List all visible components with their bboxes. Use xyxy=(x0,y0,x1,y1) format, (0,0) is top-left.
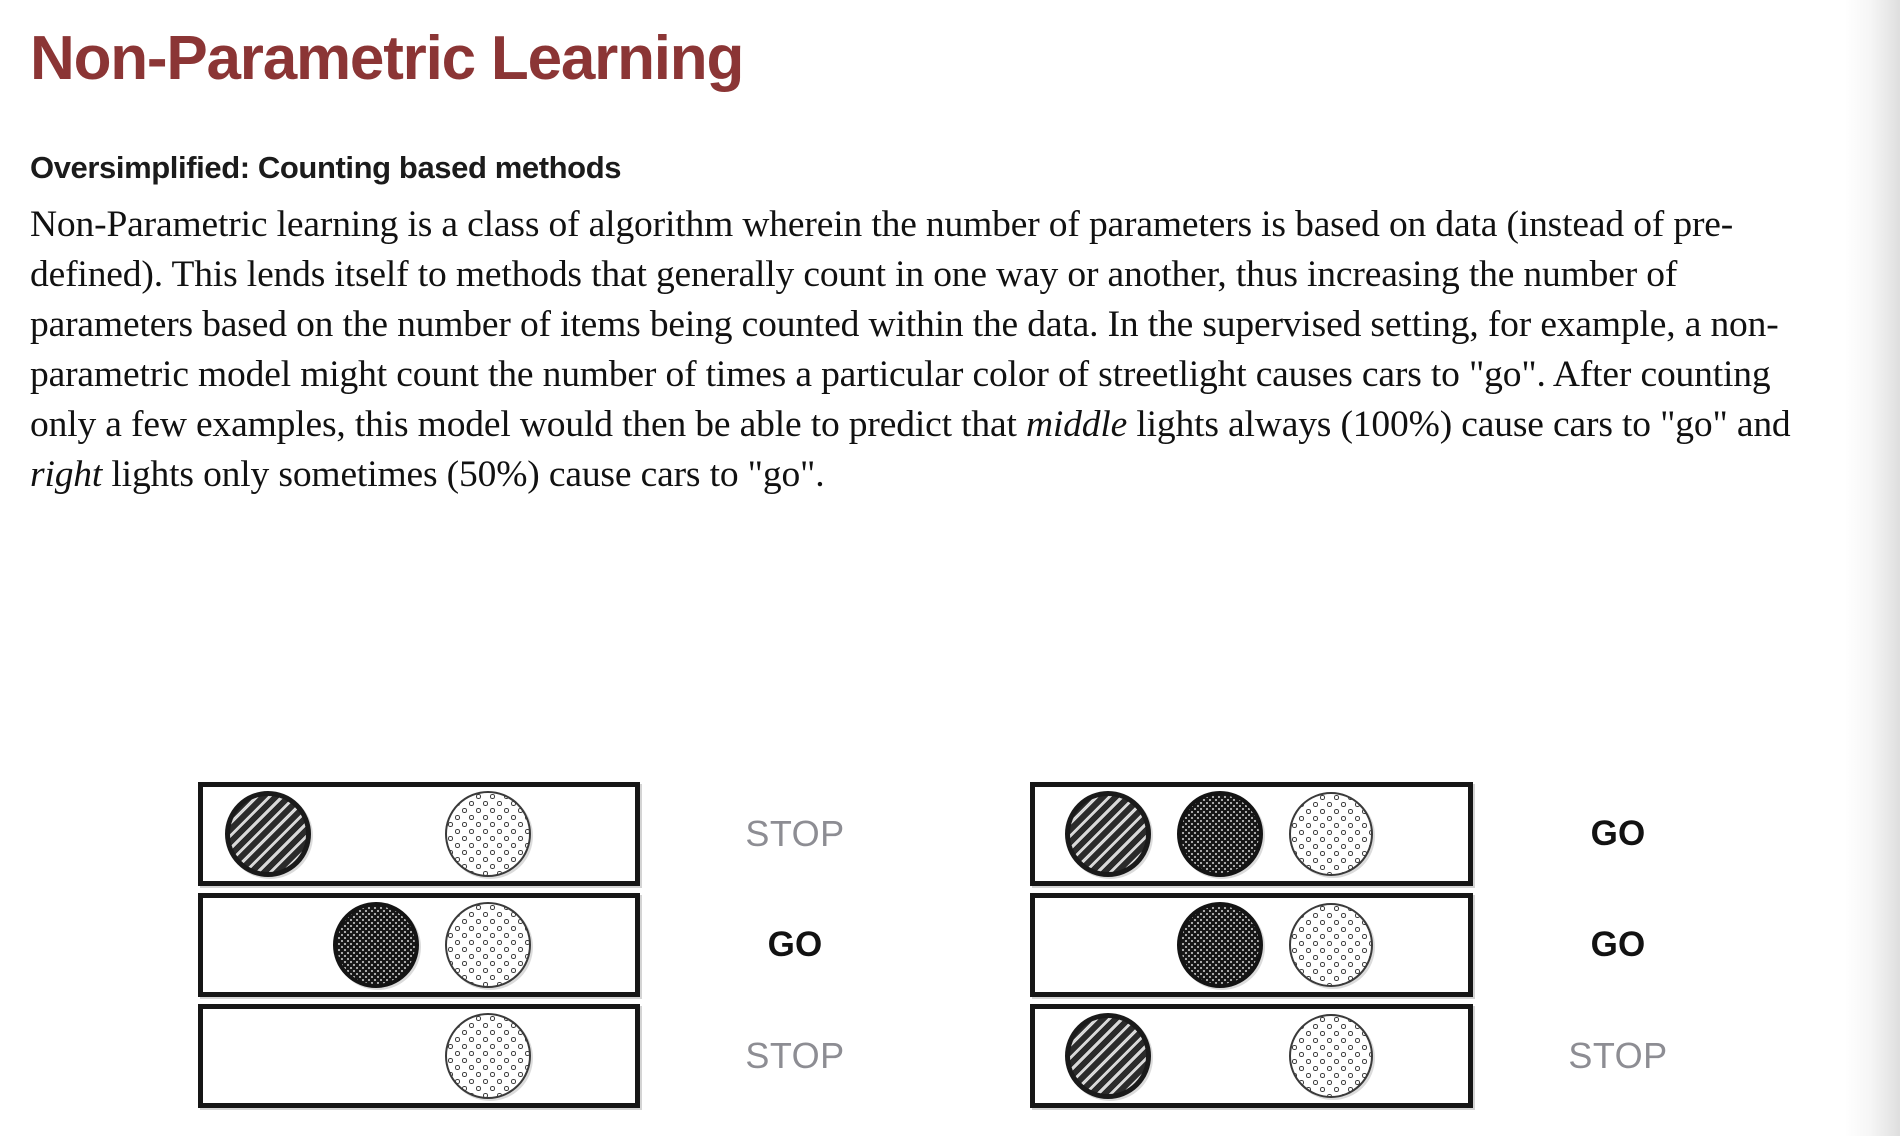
traffic-light-row: GO xyxy=(1030,893,1733,997)
traffic-light-example-group-left: STOPGOSTOP xyxy=(198,782,920,1108)
traffic-light-housing xyxy=(1030,1004,1473,1108)
traffic-light-row: STOP xyxy=(1030,1004,1733,1108)
verdict-label-go: GO xyxy=(1503,893,1733,997)
lamp-light-rings-icon xyxy=(445,791,531,877)
lamp-hatched-icon xyxy=(1065,791,1151,877)
lamp-light-rings-icon xyxy=(445,1013,531,1099)
verdict-label-go: GO xyxy=(670,893,920,997)
traffic-light-row: GO xyxy=(1030,782,1733,886)
lamp-dense-dark-icon xyxy=(1177,791,1263,877)
verdict-label-stop: STOP xyxy=(670,1004,920,1108)
traffic-light-example-group-right: GOGOSTOP xyxy=(1030,782,1733,1108)
traffic-light-row: STOP xyxy=(198,782,920,886)
traffic-light-row: STOP xyxy=(198,1004,920,1108)
traffic-light-housing xyxy=(1030,782,1473,886)
traffic-light-figure: STOPGOSTOP GOGOSTOP xyxy=(0,0,1900,1136)
traffic-light-housing xyxy=(198,782,640,886)
lamp-light-rings-icon xyxy=(1289,1014,1373,1098)
verdict-label-go: GO xyxy=(1503,782,1733,886)
lamp-hatched-icon xyxy=(225,791,311,877)
traffic-light-housing xyxy=(198,1004,640,1108)
verdict-label-stop: STOP xyxy=(1503,1004,1733,1108)
traffic-light-housing xyxy=(198,893,640,997)
traffic-light-housing xyxy=(1030,893,1473,997)
lamp-dense-dark-icon xyxy=(1177,902,1263,988)
lamp-dense-dark-icon xyxy=(333,902,419,988)
verdict-label-stop: STOP xyxy=(670,782,920,886)
traffic-light-row: GO xyxy=(198,893,920,997)
lamp-light-rings-icon xyxy=(445,902,531,988)
lamp-light-rings-icon xyxy=(1289,792,1373,876)
lamp-hatched-icon xyxy=(1065,1013,1151,1099)
lamp-light-rings-icon xyxy=(1289,903,1373,987)
